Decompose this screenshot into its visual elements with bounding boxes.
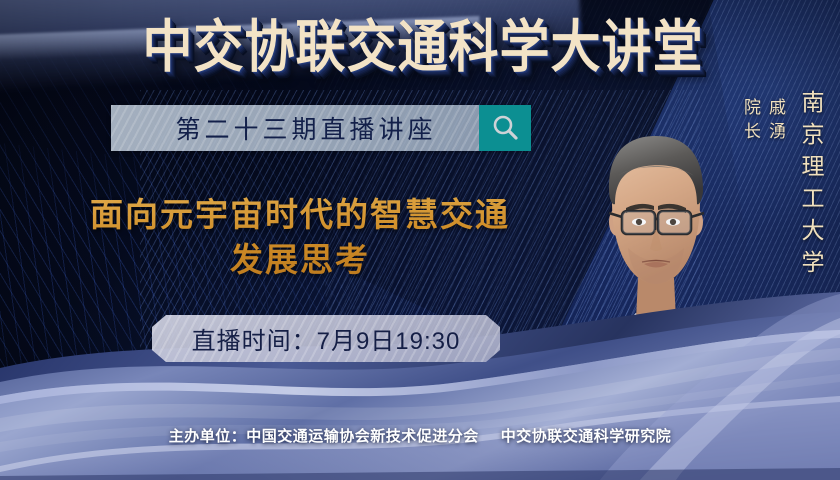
- episode-banner: 第二十三期直播讲座: [111, 105, 531, 151]
- livestream-poster: 中交协联交通科学大讲堂 第二十三期直播讲座 面向元宇宙时代的智慧交通 发展思考 …: [0, 0, 840, 480]
- page-title: 中交协联交通科学大讲堂: [133, 14, 713, 80]
- lecture-topic: 面向元宇宙时代的智慧交通 发展思考: [40, 192, 560, 282]
- search-icon: [490, 113, 520, 143]
- speaker-role: 院长: [741, 98, 760, 146]
- speaker-organization: 南京理工大学: [794, 90, 828, 282]
- organizers-footer: 主办单位：中国交通运输协会新技术促进分会中交协联交通科学研究院: [0, 425, 840, 446]
- speaker-identity: 戚湧 院长: [738, 98, 788, 146]
- topic-line-2: 发展思考: [40, 237, 560, 282]
- organizer-primary: 中国交通运输协会新技术促进分会: [246, 428, 479, 445]
- organizer-secondary: 中交协联交通科学研究院: [501, 428, 672, 445]
- speaker-name: 戚湧: [766, 98, 785, 146]
- episode-label: 第二十三期直播讲座: [111, 105, 479, 151]
- topic-line-1: 面向元宇宙时代的智慧交通: [40, 192, 560, 237]
- search-icon-container[interactable]: [479, 105, 531, 151]
- broadcast-time-badge: 直播时间：7月9日19:30: [152, 315, 500, 362]
- organizer-prefix: 主办单位：: [169, 428, 247, 445]
